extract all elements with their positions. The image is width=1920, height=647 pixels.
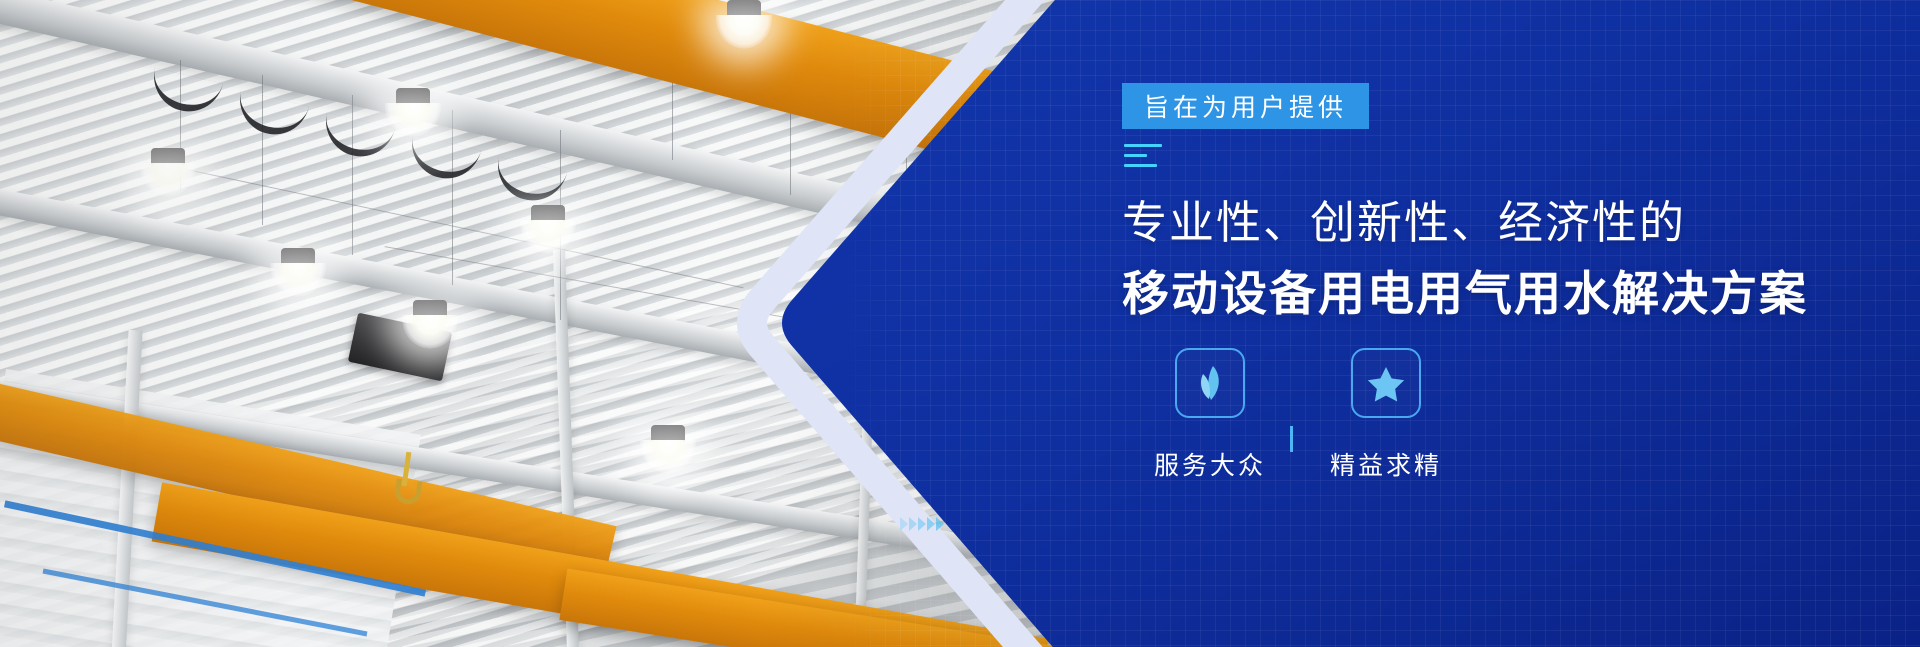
feature-separator: [1290, 426, 1293, 452]
star-icon-box: [1351, 348, 1421, 418]
decorative-line-1: [1124, 144, 1162, 147]
banner-content: 旨在为用户提供 专业性、创新性、经济性的 移动设备用电用气用水解决方案 服务大众: [1122, 0, 1882, 647]
tagline-badge-label: 旨在为用户提供: [1144, 88, 1347, 124]
star-icon: [1366, 363, 1406, 403]
hero-banner: 旨在为用户提供 专业性、创新性、经济性的 移动设备用电用气用水解决方案 服务大众: [0, 0, 1920, 647]
feature-label-excellence: 精益求精: [1330, 446, 1442, 482]
headline-line-2: 移动设备用电用气用水解决方案: [1122, 255, 1808, 324]
decorative-line-3: [1124, 164, 1157, 167]
feature-item-service: 服务大众: [1122, 348, 1298, 482]
chevron-arrows-icon: [900, 517, 944, 531]
decorative-line-2: [1124, 154, 1147, 157]
tagline-badge: 旨在为用户提供: [1122, 83, 1369, 129]
feature-label-service: 服务大众: [1154, 446, 1266, 482]
leaf-icon-box: [1175, 348, 1245, 418]
leaf-icon: [1190, 363, 1230, 403]
feature-item-excellence: 精益求精: [1298, 348, 1474, 482]
headline-line-1: 专业性、创新性、经济性的: [1122, 186, 1686, 251]
decorative-lines: [1124, 144, 1184, 174]
feature-list: 服务大众 精益求精: [1122, 348, 1474, 482]
